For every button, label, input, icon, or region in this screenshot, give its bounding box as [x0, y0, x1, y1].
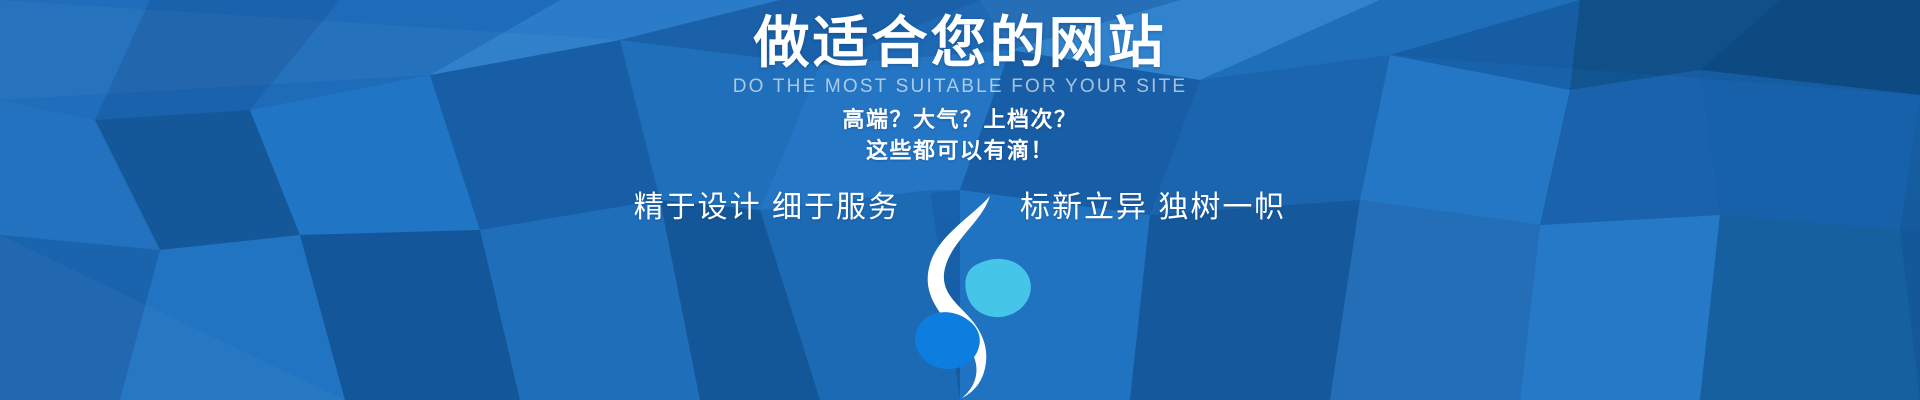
promo-banner: 做适合您的网站 DO THE MOST SUITABLE FOR YOUR SI… [0, 0, 1920, 400]
slogan-line-1: 高端？大气？上档次？ [0, 104, 1920, 135]
tagline-right: 标新立异 独树一帜 [1020, 186, 1350, 230]
leaf-swirl-logo-icon [912, 192, 1042, 400]
tagline-left: 精于设计 细于服务 [570, 186, 900, 230]
slogan-block: 高端？大气？上档次？ 这些都可以有滴！ [0, 104, 1920, 166]
slogan-line-2: 这些都可以有滴！ [0, 135, 1920, 166]
logo-upper-leaf-icon [965, 259, 1030, 317]
headline-subtitle-english: DO THE MOST SUITABLE FOR YOUR SITE [0, 76, 1920, 98]
headline-block: 做适合您的网站 DO THE MOST SUITABLE FOR YOUR SI… [0, 12, 1920, 98]
page-title: 做适合您的网站 [0, 12, 1920, 74]
